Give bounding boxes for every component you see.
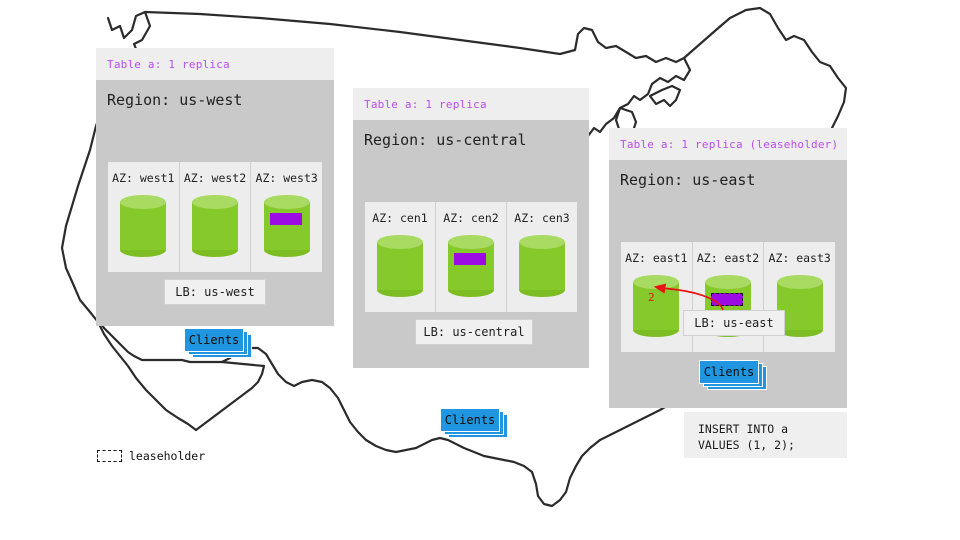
lb-label: LB: us-west xyxy=(175,285,254,299)
sql-statement-panel: INSERT INTO a VALUES (1, 2); xyxy=(684,412,847,458)
region-panel-us-west: Table a: 1 replica Region: us-west AZ: w… xyxy=(96,48,334,326)
load-balancer-us-west[interactable]: LB: us-west xyxy=(164,279,266,305)
az-label: AZ: east3 xyxy=(769,251,831,265)
clients-label: Clients xyxy=(189,333,240,347)
sql-line-2: VALUES (1, 2); xyxy=(698,437,847,453)
cylinder-top xyxy=(777,275,823,289)
cylinder-top xyxy=(377,235,423,249)
cylinder-body xyxy=(192,202,238,250)
legend-label: leaseholder xyxy=(129,449,205,463)
clients-label: Clients xyxy=(704,365,755,379)
load-balancer-us-central[interactable]: LB: us-central xyxy=(415,319,533,345)
clients-button-us-central[interactable]: Clients xyxy=(440,408,508,438)
node-cylinder-cen2[interactable] xyxy=(448,235,494,297)
region-title: Region: us-west xyxy=(96,80,334,118)
az-label: AZ: east2 xyxy=(697,251,759,265)
region-title: Region: us-central xyxy=(353,120,589,158)
clients-stack-sheet-1[interactable]: Clients xyxy=(440,408,500,432)
clients-button-us-west[interactable]: Clients xyxy=(184,328,252,358)
region-header-us-central: Table a: 1 replica xyxy=(353,88,589,120)
replica-data-block xyxy=(454,253,486,265)
az-cell-cen1[interactable]: AZ: cen1 xyxy=(365,202,436,312)
cylinder-body xyxy=(264,202,310,250)
node-cylinder-west3[interactable] xyxy=(264,195,310,257)
region-header-us-west: Table a: 1 replica xyxy=(96,48,334,80)
cylinder-body xyxy=(377,242,423,290)
arrow-step-label: 2 xyxy=(648,291,655,304)
az-cell-west2[interactable]: AZ: west2 xyxy=(180,162,252,272)
az-cell-east1[interactable]: AZ: east1 xyxy=(621,242,693,352)
diagram-canvas: Table a: 1 replica Region: us-west AZ: w… xyxy=(0,0,960,540)
node-cylinder-east1[interactable] xyxy=(633,275,679,337)
region-title: Region: us-east xyxy=(609,160,847,198)
cylinder-top xyxy=(633,275,679,289)
az-cell-west3[interactable]: AZ: west3 xyxy=(251,162,322,272)
cylinder-top xyxy=(519,235,565,249)
load-balancer-us-east[interactable]: LB: us-east xyxy=(683,310,785,336)
az-row-us-central: AZ: cen1 AZ: cen2 AZ: cen3 xyxy=(365,202,577,312)
cylinder-top xyxy=(448,235,494,249)
cylinder-top xyxy=(264,195,310,209)
az-label: AZ: cen3 xyxy=(514,211,569,225)
cylinder-body xyxy=(519,242,565,290)
replica-label: Table a: 1 replica xyxy=(364,98,487,111)
az-cell-cen2[interactable]: AZ: cen2 xyxy=(436,202,507,312)
clients-stack-sheet-1[interactable]: Clients xyxy=(184,328,244,352)
node-cylinder-west1[interactable] xyxy=(120,195,166,257)
dashed-rectangle-icon xyxy=(97,450,122,462)
region-panel-us-east: Table a: 1 replica (leaseholder) Region:… xyxy=(609,128,847,408)
cylinder-body xyxy=(633,282,679,330)
cylinder-body xyxy=(120,202,166,250)
az-label: AZ: cen1 xyxy=(372,211,427,225)
cylinder-top xyxy=(705,275,751,289)
az-cell-west1[interactable]: AZ: west1 xyxy=(108,162,180,272)
replica-data-block xyxy=(270,213,302,225)
legend: leaseholder xyxy=(97,449,205,463)
clients-label: Clients xyxy=(445,413,496,427)
az-label: AZ: cen2 xyxy=(443,211,498,225)
cylinder-top xyxy=(192,195,238,209)
node-cylinder-west2[interactable] xyxy=(192,195,238,257)
region-header-us-east: Table a: 1 replica (leaseholder) xyxy=(609,128,847,160)
sql-line-1: INSERT INTO a xyxy=(698,421,847,437)
lb-label: LB: us-east xyxy=(694,316,773,330)
cylinder-top xyxy=(120,195,166,209)
az-label: AZ: west2 xyxy=(184,171,246,185)
az-row-us-west: AZ: west1 AZ: west2 AZ: west3 xyxy=(108,162,322,272)
lb-label: LB: us-central xyxy=(423,325,524,339)
az-cell-cen3[interactable]: AZ: cen3 xyxy=(507,202,577,312)
replica-label: Table a: 1 replica (leaseholder) xyxy=(620,138,838,151)
region-panel-us-central: Table a: 1 replica Region: us-central AZ… xyxy=(353,88,589,368)
az-label: AZ: east1 xyxy=(625,251,687,265)
cylinder-body xyxy=(448,242,494,290)
node-cylinder-cen1[interactable] xyxy=(377,235,423,297)
az-label: AZ: west3 xyxy=(256,171,318,185)
replica-label: Table a: 1 replica xyxy=(107,58,230,71)
replica-data-block-leaseholder xyxy=(711,293,743,306)
clients-stack-sheet-1[interactable]: Clients xyxy=(699,360,759,384)
clients-button-us-east[interactable]: Clients xyxy=(699,360,767,390)
node-cylinder-cen3[interactable] xyxy=(519,235,565,297)
az-label: AZ: west1 xyxy=(112,171,174,185)
